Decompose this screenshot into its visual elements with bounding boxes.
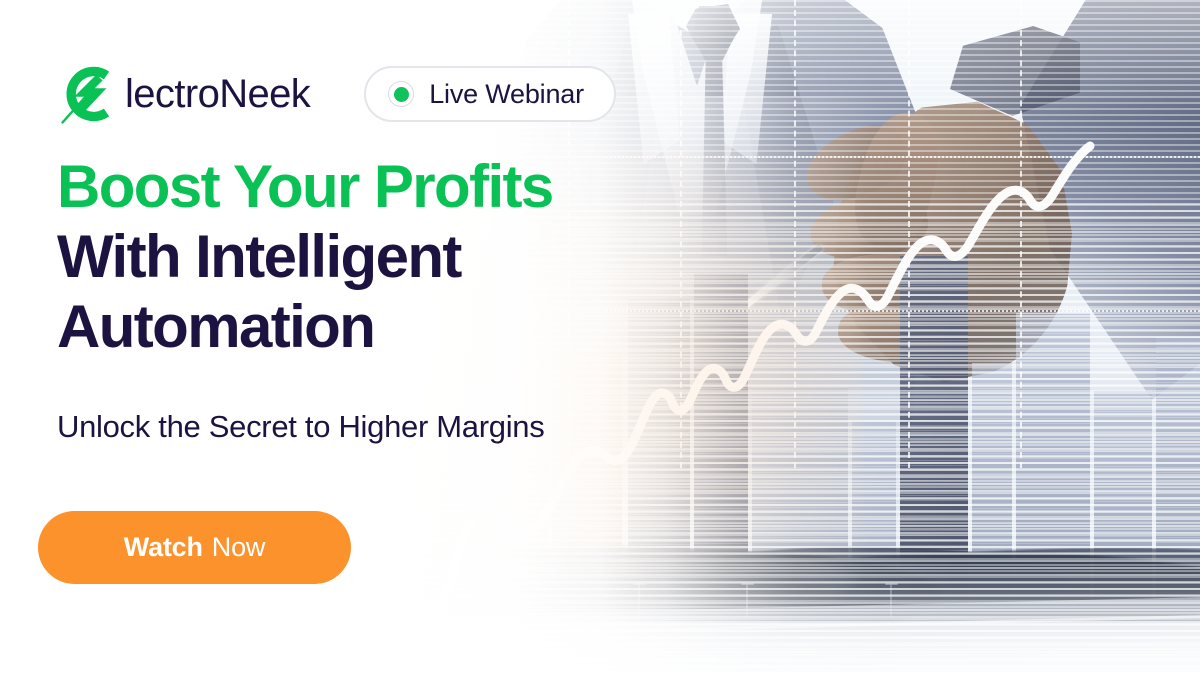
badge-label: Live Webinar <box>429 79 584 110</box>
headline-accent-line: Boost Your Profits <box>57 152 553 222</box>
cta-label-strong: Watch <box>124 532 203 563</box>
logo-wordmark: lectroNeek <box>125 74 310 114</box>
live-dot <box>394 87 409 102</box>
watch-now-button[interactable]: Watch Now <box>38 511 351 584</box>
electroneek-logo[interactable]: lectroNeek <box>57 62 310 126</box>
headline-line-3: Automation <box>57 292 553 362</box>
header-row: lectroNeek Live Webinar <box>57 62 616 126</box>
live-dot-icon <box>388 81 414 107</box>
content-column: lectroNeek Live Webinar Boost Your Profi… <box>0 0 700 673</box>
live-webinar-badge[interactable]: Live Webinar <box>364 66 616 122</box>
electroneek-circle-bolt-logo <box>57 62 121 126</box>
subheadline: Unlock the Secret to Higher Margins <box>57 409 544 445</box>
webinar-promo-banner: lectroNeek Live Webinar Boost Your Profi… <box>0 0 1200 673</box>
headline-line-2: With Intelligent <box>57 222 553 292</box>
cta-label-light: Now <box>212 532 265 563</box>
page-title: Boost Your Profits With Intelligent Auto… <box>57 152 553 363</box>
